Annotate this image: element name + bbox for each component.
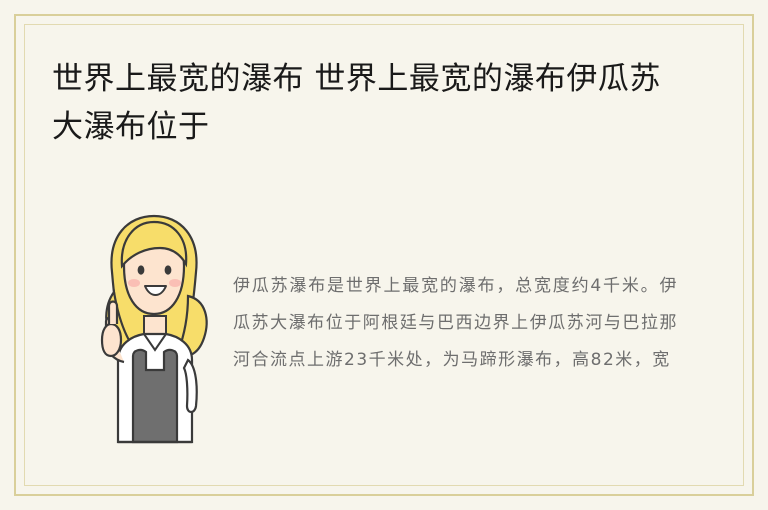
page-title: 世界上最宽的瀑布 世界上最宽的瀑布伊瓜苏大瀑布位于 [52, 55, 672, 151]
article-content: 世界上最宽的瀑布 世界上最宽的瀑布伊瓜苏大瀑布位于 [52, 55, 724, 455]
cartoon-girl-pointing-up-icon [84, 210, 224, 460]
article-page: 世界上最宽的瀑布 世界上最宽的瀑布伊瓜苏大瀑布位于 [0, 0, 768, 510]
article-body-area: 伊瓜苏瀑布是世界上最宽的瀑布，总宽度约4千米。伊瓜苏大瀑布位于阿根廷与巴西边界上… [52, 200, 724, 460]
article-paragraph: 伊瓜苏瀑布是世界上最宽的瀑布，总宽度约4千米。伊瓜苏大瀑布位于阿根廷与巴西边界上… [233, 268, 678, 379]
